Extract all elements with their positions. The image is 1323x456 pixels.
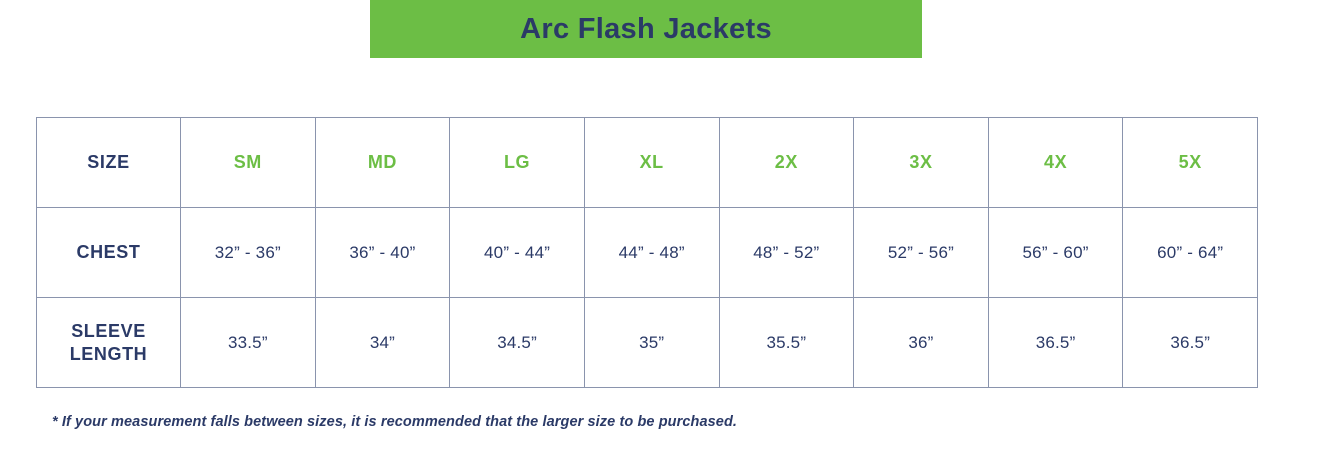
table-cell-chest-xl: 44” - 48” bbox=[584, 208, 719, 298]
table-cell-chest-sm: 32” - 36” bbox=[181, 208, 316, 298]
table-cell-sleeve-sm: 33.5” bbox=[181, 298, 316, 388]
cell-value: 34” bbox=[370, 333, 395, 352]
table-cell-chest-5x: 60” - 64” bbox=[1123, 208, 1258, 298]
cell-value: 44” - 48” bbox=[619, 243, 685, 262]
column-header-md: MD bbox=[368, 152, 397, 172]
cell-value: 52” - 56” bbox=[888, 243, 954, 262]
cell-value: 32” - 36” bbox=[215, 243, 281, 262]
cell-value: 36” bbox=[908, 333, 933, 352]
cell-value: 56” - 60” bbox=[1023, 243, 1089, 262]
table-cell-sleeve-md: 34” bbox=[315, 298, 450, 388]
table-header-cell-md: MD bbox=[315, 118, 450, 208]
table-cell-sleeve-lg: 34.5” bbox=[450, 298, 585, 388]
table-header-cell-sm: SM bbox=[181, 118, 316, 208]
table-header-cell-xl: XL bbox=[584, 118, 719, 208]
cell-value: 34.5” bbox=[497, 333, 537, 352]
cell-value: 48” - 52” bbox=[753, 243, 819, 262]
row-label-sleeve-line2: LENGTH bbox=[70, 344, 148, 364]
table-cell-chest-lg: 40” - 44” bbox=[450, 208, 585, 298]
table-cell-chest-3x: 52” - 56” bbox=[854, 208, 989, 298]
table-row: SLEEVE LENGTH 33.5” 34” 34.5” 35” 35.5” … bbox=[37, 298, 1258, 388]
column-header-sm: SM bbox=[234, 152, 262, 172]
table-header-cell-size: SIZE bbox=[37, 118, 181, 208]
cell-value: 36.5” bbox=[1036, 333, 1076, 352]
table-header-row: SIZE SM MD LG XL 2X 3X 4X bbox=[37, 118, 1258, 208]
table-header-cell-4x: 4X bbox=[988, 118, 1123, 208]
column-header-lg: LG bbox=[504, 152, 530, 172]
cell-value: 35.5” bbox=[766, 333, 806, 352]
table-cell-sleeve-4x: 36.5” bbox=[988, 298, 1123, 388]
column-header-3x: 3X bbox=[909, 152, 932, 172]
row-label-sleeve-line1: SLEEVE bbox=[71, 321, 146, 341]
table-header-cell-2x: 2X bbox=[719, 118, 854, 208]
column-header-xl: XL bbox=[640, 152, 664, 172]
column-header-4x: 4X bbox=[1044, 152, 1067, 172]
table-row: CHEST 32” - 36” 36” - 40” 40” - 44” 44” … bbox=[37, 208, 1258, 298]
table-cell-sleeve-xl: 35” bbox=[584, 298, 719, 388]
table-cell-chest-md: 36” - 40” bbox=[315, 208, 450, 298]
cell-value: 36” - 40” bbox=[349, 243, 415, 262]
table-cell-sleeve-5x: 36.5” bbox=[1123, 298, 1258, 388]
size-chart-table: SIZE SM MD LG XL 2X 3X 4X bbox=[36, 117, 1258, 388]
cell-value: 40” - 44” bbox=[484, 243, 550, 262]
column-header-size: SIZE bbox=[87, 152, 129, 172]
table-cell-chest-4x: 56” - 60” bbox=[988, 208, 1123, 298]
table-cell-sleeve-3x: 36” bbox=[854, 298, 989, 388]
title-banner: Arc Flash Jackets bbox=[370, 0, 922, 58]
cell-value: 35” bbox=[639, 333, 664, 352]
table-header-cell-lg: LG bbox=[450, 118, 585, 208]
table-header-cell-3x: 3X bbox=[854, 118, 989, 208]
title-banner-region: Arc Flash Jackets bbox=[0, 0, 1323, 58]
table-cell-sleeve-2x: 35.5” bbox=[719, 298, 854, 388]
cell-value: 33.5” bbox=[228, 333, 268, 352]
column-header-5x: 5X bbox=[1179, 152, 1202, 172]
table-header-cell-5x: 5X bbox=[1123, 118, 1258, 208]
row-header-sleeve-length: SLEEVE LENGTH bbox=[37, 298, 181, 388]
row-header-chest: CHEST bbox=[37, 208, 181, 298]
row-label-chest: CHEST bbox=[76, 242, 140, 262]
column-header-2x: 2X bbox=[775, 152, 798, 172]
cell-value: 60” - 64” bbox=[1157, 243, 1223, 262]
table-cell-chest-2x: 48” - 52” bbox=[719, 208, 854, 298]
cell-value: 36.5” bbox=[1170, 333, 1210, 352]
footnote-text: * If your measurement falls between size… bbox=[52, 414, 737, 430]
page-title: Arc Flash Jackets bbox=[520, 15, 772, 44]
